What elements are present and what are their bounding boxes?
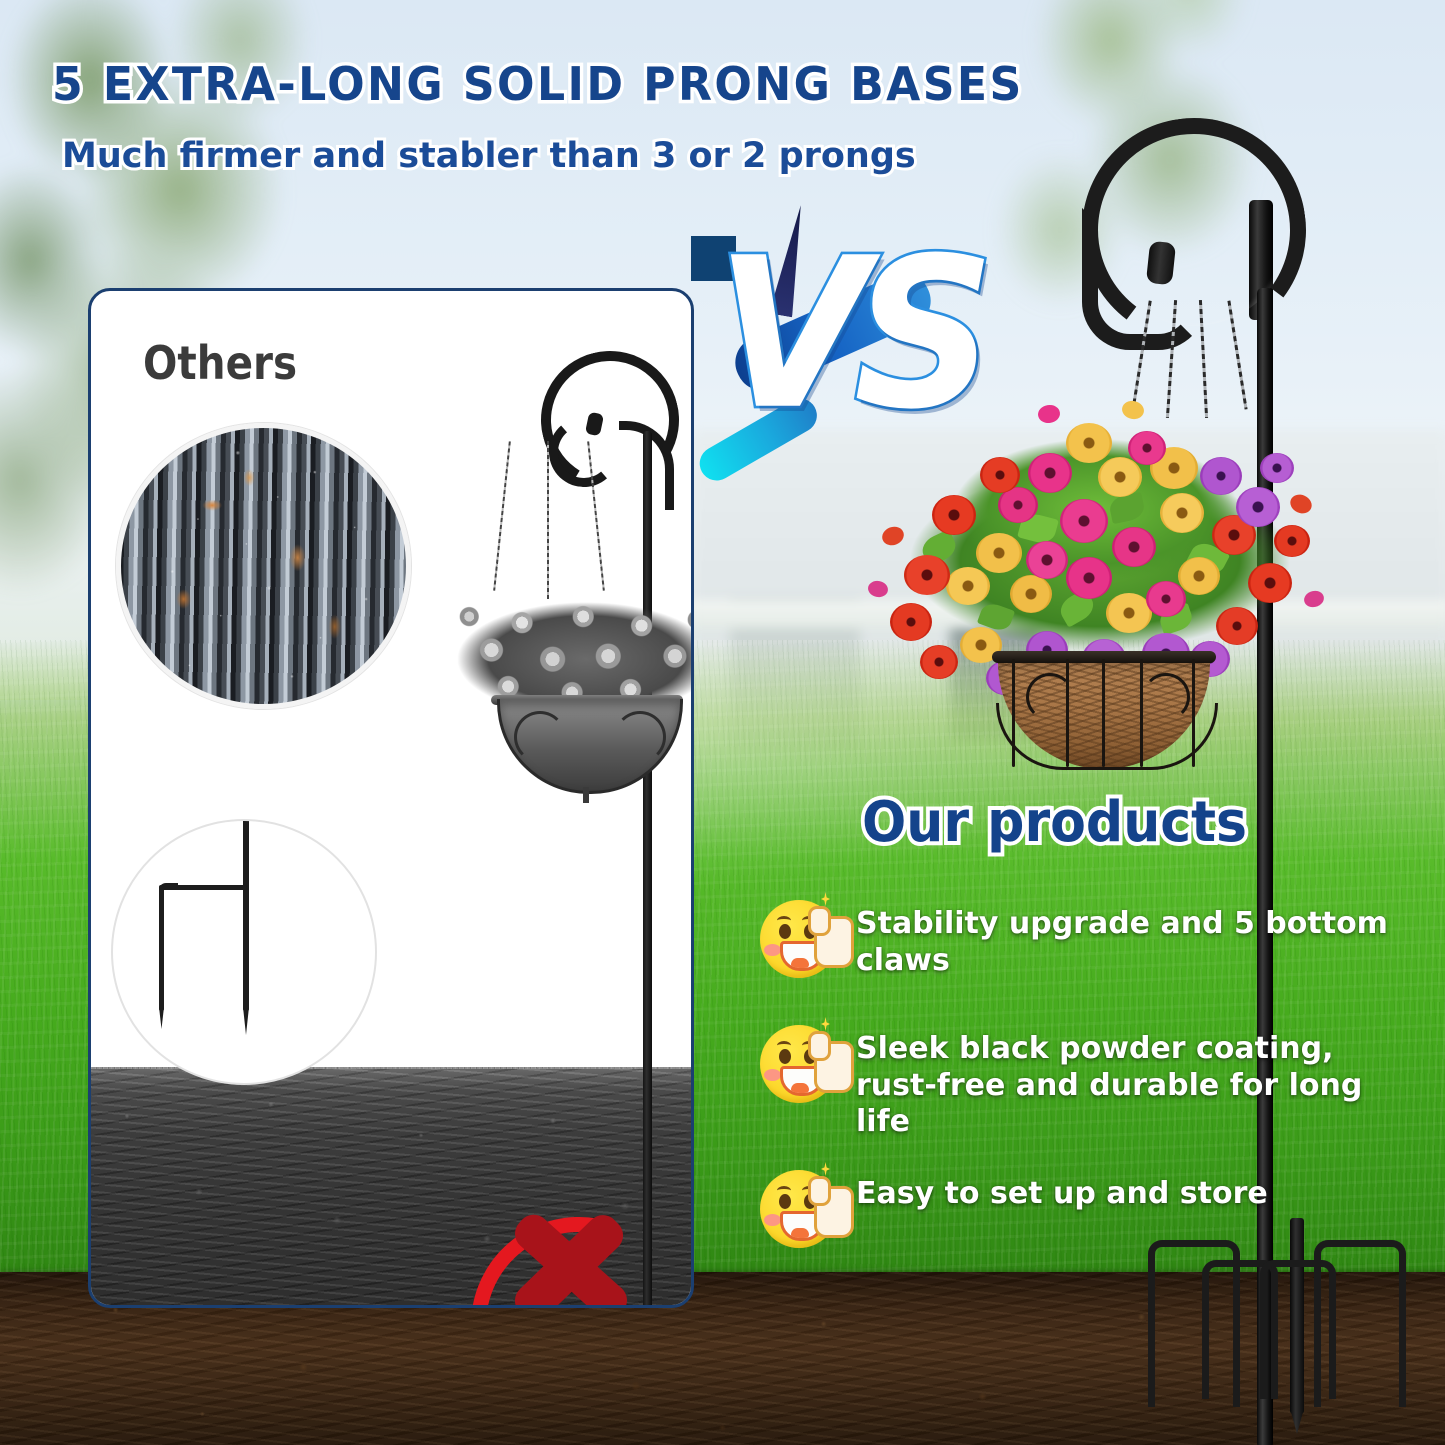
water-droplets bbox=[121, 428, 406, 704]
prong-center-tip bbox=[1290, 1408, 1304, 1434]
competitor-flower-basket bbox=[441, 571, 694, 801]
product-hook-tip bbox=[1146, 241, 1176, 285]
benefit-item: Stability upgrade and 5 bottom claws bbox=[760, 900, 1396, 979]
page-subtitle: Much firmer and stabler than 3 or 2 pron… bbox=[62, 136, 916, 176]
benefit-text: Stability upgrade and 5 bottom claws bbox=[856, 900, 1396, 979]
product-flower-basket bbox=[860, 395, 1340, 785]
benefit-item: Sleek black powder coating, rust-free an… bbox=[760, 1025, 1396, 1141]
rusty-poles-photo bbox=[116, 423, 411, 709]
reject-x-icon bbox=[463, 1213, 689, 1308]
stake-main-tip bbox=[243, 1007, 249, 1035]
benefits-list: Stability upgrade and 5 bottom claws Sle… bbox=[760, 900, 1400, 1230]
our-products-label: Our products bbox=[862, 790, 1247, 855]
five-prong-base bbox=[1148, 1232, 1445, 1445]
benefit-text: Easy to set up and store bbox=[856, 1170, 1268, 1213]
smiley-thumbs-up-icon bbox=[760, 900, 838, 978]
benefit-item: Easy to set up and store bbox=[760, 1170, 1268, 1248]
smiley-thumbs-up-icon bbox=[760, 1025, 838, 1103]
smiley-thumbs-up-icon bbox=[760, 1170, 838, 1248]
competitor-basket-stem bbox=[583, 787, 589, 803]
page-title: 5 EXTRA-LONG SOLID PRONG BASES bbox=[52, 57, 1024, 111]
basket-wire-frame bbox=[992, 651, 1216, 775]
benefit-text: Sleek black powder coating, rust-free an… bbox=[856, 1025, 1396, 1141]
competitor-basket-bowl bbox=[497, 699, 683, 794]
vs-letters: VS bbox=[716, 252, 981, 418]
stake-side-prong bbox=[159, 885, 164, 1011]
infographic-canvas: 5 EXTRA-LONG SOLID PRONG BASES Much firm… bbox=[0, 0, 1445, 1445]
basket-bottom-arc bbox=[996, 703, 1218, 770]
hook-pole bbox=[643, 431, 652, 1308]
stake-side-tip bbox=[159, 1007, 164, 1029]
prong-outer-right bbox=[1314, 1240, 1406, 1407]
others-comparison-panel: Others bbox=[88, 288, 694, 1308]
product-flowers bbox=[860, 395, 1340, 695]
two-prong-stake-diagram bbox=[111, 819, 377, 1085]
others-label: Others bbox=[143, 336, 297, 390]
stake-main-rod bbox=[243, 819, 249, 1011]
